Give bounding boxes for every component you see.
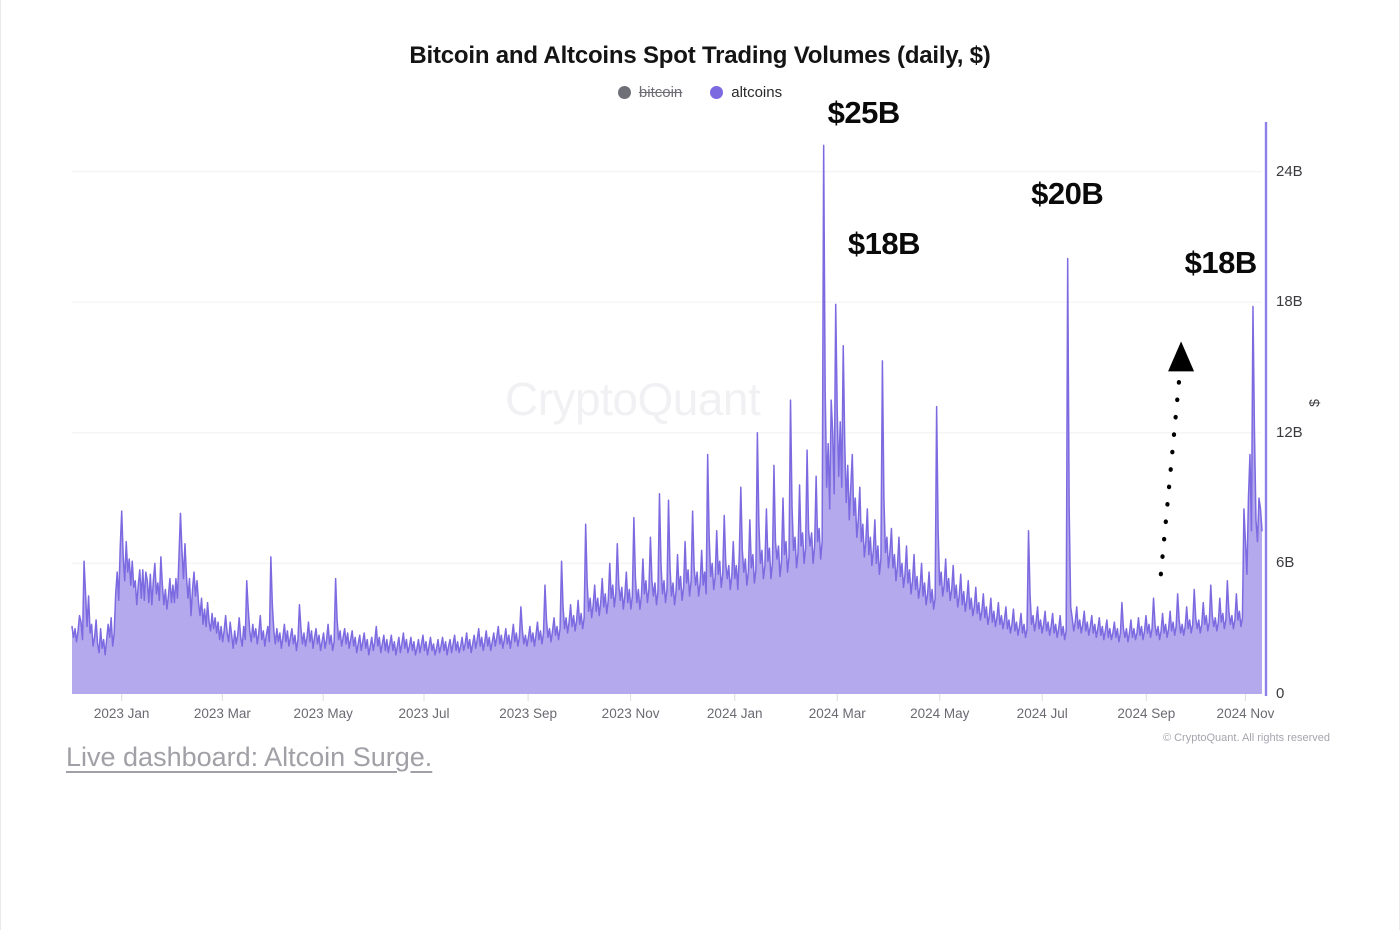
page-title: Bitcoin and Altcoins Spot Trading Volume… [0, 42, 1400, 70]
chart-legend: bitcoin altcoins [0, 84, 1400, 101]
y-axis-tick: 6B [1276, 554, 1294, 571]
x-axis-tick: 2023 Jan [94, 706, 150, 721]
legend-dot-bitcoin [618, 86, 631, 99]
cryptoquant-watermark: CryptoQuant [505, 372, 760, 426]
y-axis-tick: 0 [1276, 685, 1284, 702]
peak-annotation: $20B [1031, 176, 1103, 212]
live-dashboard-link[interactable]: Live dashboard: Altcoin Surge. [66, 742, 432, 773]
legend-item-bitcoin[interactable]: bitcoin [618, 84, 682, 101]
legend-label-altcoins: altcoins [731, 84, 782, 101]
y-axis-tick: 24B [1276, 163, 1303, 180]
x-axis-tick: 2024 May [910, 706, 969, 721]
y-axis-tick: 12B [1276, 424, 1303, 441]
peak-annotation: $18B [848, 226, 920, 262]
y-axis-tick: 18B [1276, 293, 1303, 310]
legend-dot-altcoins [710, 86, 723, 99]
x-axis-tick: 2023 Jul [398, 706, 449, 721]
x-axis-tick: 2024 Nov [1217, 706, 1275, 721]
x-axis-tick: 2024 Mar [809, 706, 866, 721]
x-axis-tick: 2023 Nov [602, 706, 660, 721]
x-axis-tick: 2023 May [294, 706, 353, 721]
x-axis-tick: 2024 Jul [1017, 706, 1068, 721]
x-axis-tick: 2023 Sep [499, 706, 557, 721]
chart-page: Bitcoin and Altcoins Spot Trading Volume… [0, 0, 1400, 930]
copyright-notice: © CryptoQuant. All rights reserved [1163, 732, 1330, 744]
legend-item-altcoins[interactable]: altcoins [710, 84, 782, 101]
peak-annotation: $18B [1185, 245, 1257, 281]
x-axis-tick: 2024 Jan [707, 706, 763, 721]
x-axis-tick: 2023 Mar [194, 706, 251, 721]
page-left-border [0, 0, 1, 930]
peak-annotation: $25B [828, 95, 900, 131]
legend-label-bitcoin: bitcoin [639, 84, 682, 101]
chart-plot [0, 0, 1400, 930]
y-axis-title: $ [1306, 399, 1322, 407]
x-axis-tick: 2024 Sep [1117, 706, 1175, 721]
